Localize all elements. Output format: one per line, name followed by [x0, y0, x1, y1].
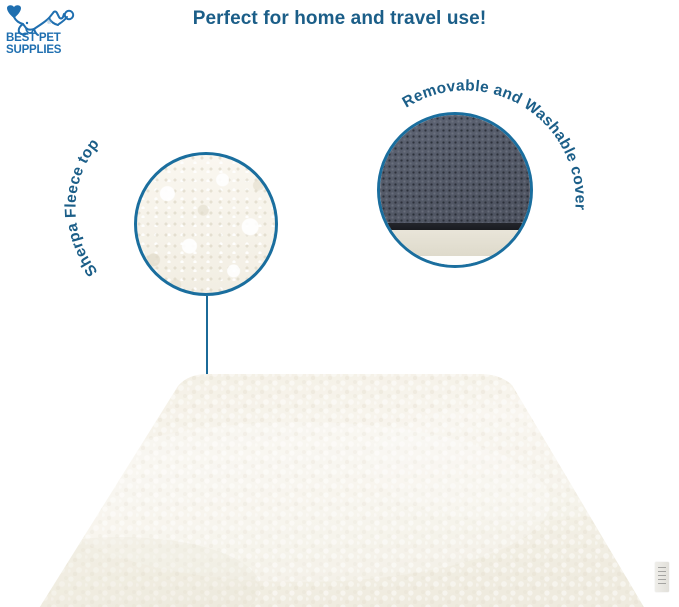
callout-label-washable-cover-text: Removable and Washable cover [399, 77, 588, 210]
product-infographic: ® BEST PETSUPPLIES Perfect for home and … [0, 0, 679, 607]
brand-wordmark-line2: SUPPLIES [6, 44, 61, 56]
brand-wordmark-line1: BEST PET [6, 32, 61, 44]
brand-wordmark: BEST PETSUPPLIES [6, 33, 80, 56]
bed-care-tag [655, 562, 669, 592]
headline-text: Perfect for home and travel use! [0, 8, 679, 30]
callout-label-sherpa-fleece-text: Sherpa Fleece top [62, 136, 102, 280]
product-dog-bed [0, 352, 679, 607]
callout-label-washable-cover: Removable and Washable cover [335, 68, 585, 318]
bed-top-fleece-surface [0, 352, 679, 607]
